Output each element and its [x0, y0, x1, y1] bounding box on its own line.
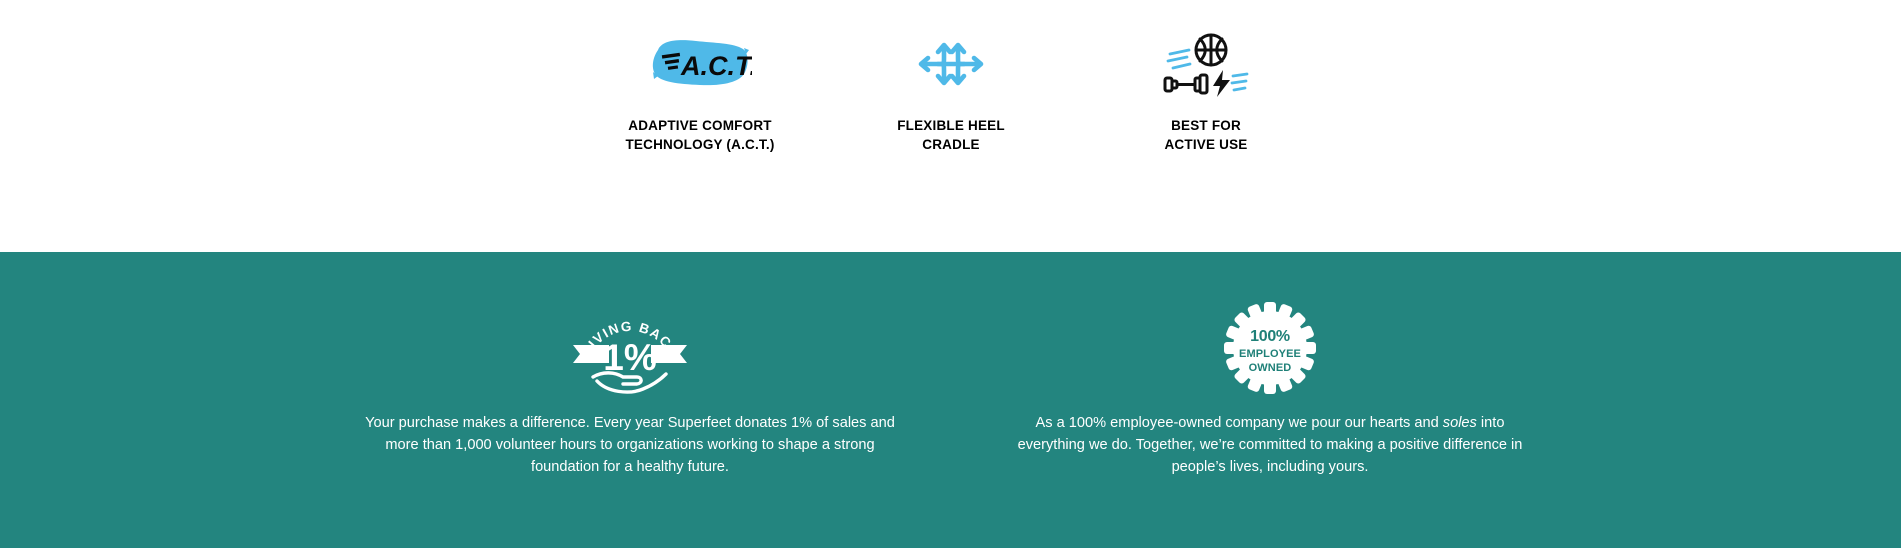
feature-label-active-use-line2: ACTIVE USE: [1091, 135, 1321, 154]
employee-owned-badge-icon: 100% EMPLOYEE OWNED: [1005, 300, 1535, 396]
feature-label-heel-cradle: FLEXIBLE HEEL CRADLE: [836, 116, 1066, 154]
basketball-dumbbell-lightning-icon: [1091, 26, 1321, 102]
giving-back-section: GIVING BACK 1% Your purchase makes a dif…: [0, 252, 1901, 548]
feature-best-for-active-use: BEST FOR ACTIVE USE: [1091, 26, 1321, 154]
giving-back-description: Your purchase makes a difference. Every …: [365, 413, 895, 479]
employee-owned-column: 100% EMPLOYEE OWNED As a 100% employee-o…: [1005, 300, 1535, 479]
act-brushstroke-logo-icon: A.C.T.: [585, 26, 815, 102]
employee-owned-line1: 100%: [1250, 328, 1290, 345]
giving-back-one-percent-badge-icon: GIVING BACK 1%: [365, 300, 895, 396]
feature-label-act-line1: ADAPTIVE COMFORT: [585, 116, 815, 135]
feature-label-heel-cradle-line2: CRADLE: [836, 135, 1066, 154]
employee-owned-description-italic: soles: [1443, 415, 1477, 431]
act-logo-text: A.C.T.: [680, 51, 752, 81]
feature-flexible-heel-cradle: FLEXIBLE HEEL CRADLE: [836, 26, 1066, 154]
employee-owned-description-part1: As a 100% employee-owned company we pour…: [1036, 415, 1443, 431]
feature-label-active-use-line1: BEST FOR: [1091, 116, 1321, 135]
feature-adaptive-comfort-technology: A.C.T. ADAPTIVE COMFORT TECHNOLOGY (A.C.…: [585, 26, 815, 154]
product-features-section: A.C.T. ADAPTIVE COMFORT TECHNOLOGY (A.C.…: [0, 0, 1901, 252]
feature-label-act: ADAPTIVE COMFORT TECHNOLOGY (A.C.T.): [585, 116, 815, 154]
multi-direction-arrows-icon: [836, 26, 1066, 102]
features-row: A.C.T. ADAPTIVE COMFORT TECHNOLOGY (A.C.…: [0, 0, 1901, 252]
feature-label-active-use: BEST FOR ACTIVE USE: [1091, 116, 1321, 154]
feature-label-heel-cradle-line1: FLEXIBLE HEEL: [836, 116, 1066, 135]
employee-owned-line2: EMPLOYEE: [1239, 348, 1301, 360]
feature-label-act-line2: TECHNOLOGY (A.C.T.): [585, 135, 815, 154]
giving-back-column: GIVING BACK 1% Your purchase makes a dif…: [365, 300, 895, 479]
employee-owned-line3: OWNED: [1249, 362, 1292, 374]
employee-owned-description: As a 100% employee-owned company we pour…: [1005, 413, 1535, 479]
